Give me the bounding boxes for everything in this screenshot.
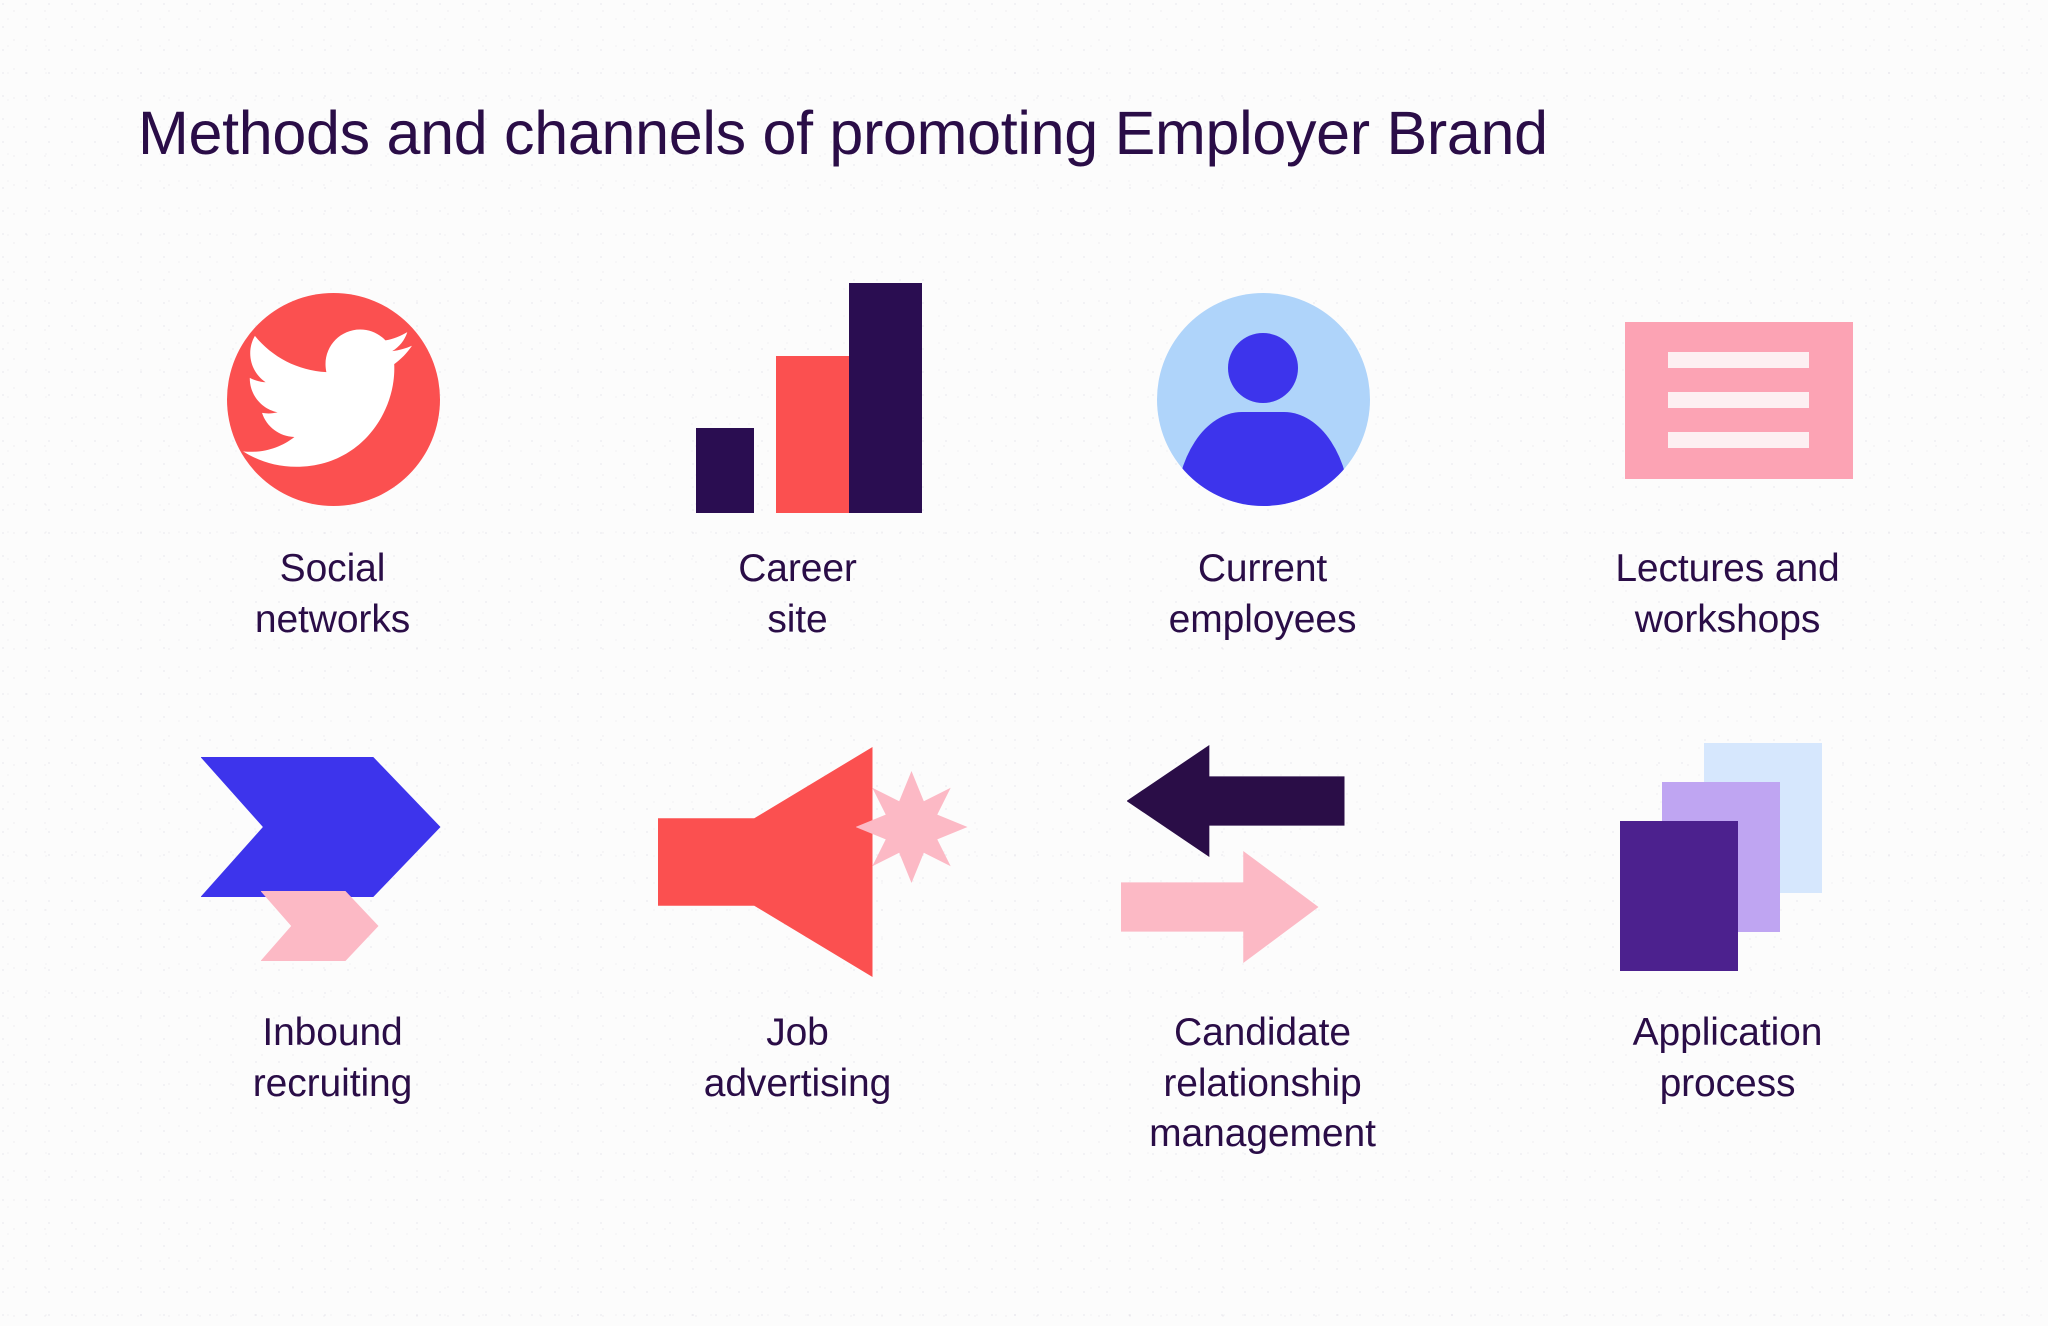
item-label-application-process: Application process: [1633, 1008, 1823, 1109]
item-label-social-networks: Social networks: [255, 544, 410, 645]
label-cell-application-process: Application process: [1495, 974, 1960, 1198]
item-label-current-employees: Current employees: [1169, 544, 1357, 645]
board-line-3: [1668, 432, 1809, 448]
board-line-1: [1668, 352, 1809, 368]
board-panel: [1625, 322, 1853, 479]
bar-chart-bar-2: [776, 356, 849, 513]
item-label-inbound-recruiting: Inbound recruiting: [253, 1008, 412, 1109]
arrow-right-pink: [1121, 851, 1319, 963]
bar-chart-group: [696, 283, 916, 523]
label-cell-candidate-relationship-management: Candidate relationship management: [1030, 974, 1495, 1198]
label-cell-career-site: Career site: [565, 510, 1030, 734]
megaphone-icon[interactable]: [648, 739, 948, 989]
bar-chart-bar-3: [849, 283, 922, 513]
board-line-2: [1668, 392, 1809, 408]
bar-chart-icon[interactable]: [648, 275, 948, 525]
stacked-cards-icon[interactable]: [1578, 739, 1878, 989]
chevron-large-blue: [201, 757, 441, 897]
card-front-darkpurple: [1620, 821, 1738, 971]
twitter-bird-icon[interactable]: [183, 275, 483, 525]
icon-cell-current-employees[interactable]: [1030, 270, 1495, 530]
presentation-board-icon[interactable]: [1578, 275, 1878, 525]
label-cell-current-employees: Current employees: [1030, 510, 1495, 734]
label-cell-inbound-recruiting: Inbound recruiting: [100, 974, 565, 1198]
item-label-job-advertising: Job advertising: [704, 1008, 892, 1109]
megaphone-horn: [658, 747, 873, 977]
page-title: Methods and channels of promoting Employ…: [138, 100, 1548, 167]
item-label-candidate-relationship-management: Candidate relationship management: [1149, 1008, 1376, 1160]
chevron-small-pink: [261, 891, 379, 961]
avatar-head: [1228, 333, 1298, 403]
bar-chart-bar-1: [696, 428, 754, 513]
label-cell-lectures-and-workshops: Lectures and workshops: [1495, 510, 1960, 734]
avatar-shoulders: [1176, 412, 1351, 506]
icon-cell-social-networks[interactable]: [100, 270, 565, 530]
two-way-arrows-icon[interactable]: [1113, 739, 1413, 989]
item-label-lectures-and-workshops: Lectures and workshops: [1615, 544, 1839, 645]
icon-cell-lectures-and-workshops[interactable]: [1495, 270, 1960, 530]
user-avatar-icon[interactable]: [1113, 275, 1413, 525]
methods-grid: Social networks Career site Current empl…: [100, 270, 1960, 1198]
item-label-career-site: Career site: [738, 544, 857, 645]
label-cell-social-networks: Social networks: [100, 510, 565, 734]
icon-cell-inbound-recruiting[interactable]: [100, 734, 565, 994]
twitter-bird-glyph: [227, 293, 440, 506]
arrow-left-dark: [1127, 745, 1345, 857]
double-chevron-right-icon[interactable]: [183, 739, 483, 989]
infographic-page: Methods and channels of promoting Employ…: [0, 0, 2048, 1326]
label-cell-job-advertising: Job advertising: [565, 974, 1030, 1198]
avatar-circle-backdrop: [1157, 293, 1370, 506]
icon-cell-candidate-relationship-management[interactable]: [1030, 734, 1495, 994]
icon-cell-career-site[interactable]: [565, 270, 1030, 530]
icon-cell-job-advertising[interactable]: [565, 734, 1030, 994]
icon-cell-application-process[interactable]: [1495, 734, 1960, 994]
